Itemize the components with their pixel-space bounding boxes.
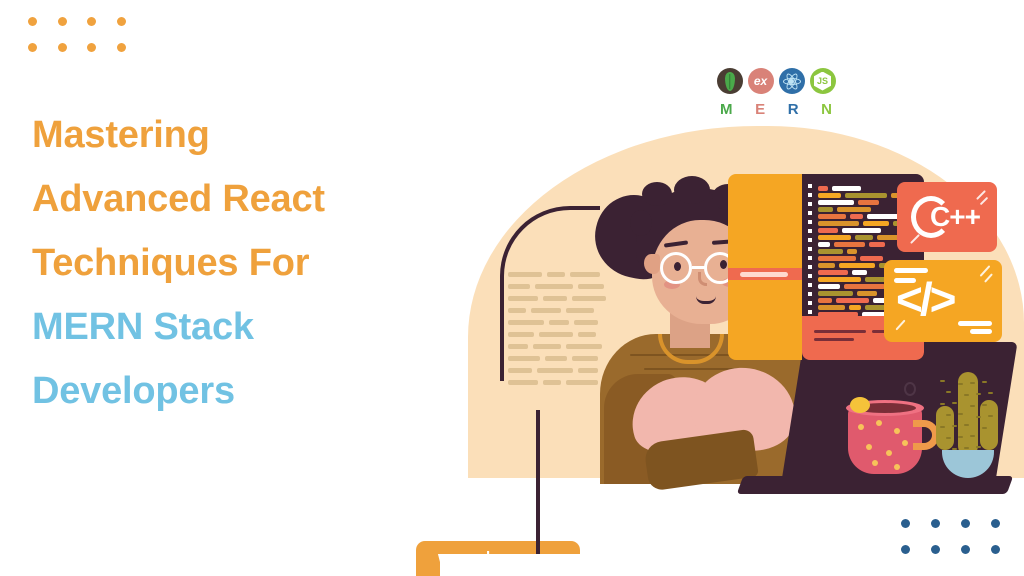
cactus-arm-right xyxy=(980,400,998,450)
nodejs-label: JS xyxy=(817,77,828,86)
decorative-dots-top-left xyxy=(18,8,136,60)
mongodb-icon xyxy=(717,68,743,94)
editor-sidebar xyxy=(728,174,802,360)
headline-line-3: Techniques For xyxy=(32,244,452,282)
cactus-arm-left xyxy=(936,406,954,450)
character-ear xyxy=(644,254,660,274)
express-icon: ex xyxy=(748,68,774,94)
decorative-dots-bottom-right xyxy=(890,510,1010,562)
dot xyxy=(28,43,37,52)
react-icon xyxy=(779,68,805,94)
dot xyxy=(87,17,96,26)
dot xyxy=(991,519,1000,528)
page-title: Mastering Advanced React Techniques For … xyxy=(32,116,452,410)
headline-line-5: Developers xyxy=(32,372,452,410)
laptop-camera-icon xyxy=(904,382,916,396)
mern-badge-row: ex JS xyxy=(716,68,836,94)
dot xyxy=(961,519,970,528)
cpp-language-card: C++ xyxy=(897,182,997,252)
coffee-mug-icon xyxy=(848,406,922,474)
dot xyxy=(901,519,910,528)
laptop-keyboard-base xyxy=(737,476,1014,494)
blog-banner: Mastering Advanced React Techniques For … xyxy=(0,0,1024,576)
dot xyxy=(991,545,1000,554)
headline-line-2: Advanced React xyxy=(32,180,452,218)
lamp-arm-icon xyxy=(500,206,600,381)
code-snippet-card: </> xyxy=(884,260,1002,342)
headline-line-4: MERN Stack xyxy=(32,308,452,346)
dot xyxy=(117,17,126,26)
dot xyxy=(58,17,67,26)
headline-line-1: Mastering xyxy=(32,116,452,154)
nodejs-icon: JS xyxy=(810,68,836,94)
dot xyxy=(931,545,940,554)
dot xyxy=(117,43,126,52)
hero-illustration: C++ </> xyxy=(440,110,1024,476)
dot xyxy=(28,17,37,26)
dot xyxy=(901,545,910,554)
dot xyxy=(58,43,67,52)
dot xyxy=(961,545,970,554)
dot xyxy=(87,43,96,52)
lamp-pole xyxy=(536,410,540,565)
dot xyxy=(931,519,940,528)
